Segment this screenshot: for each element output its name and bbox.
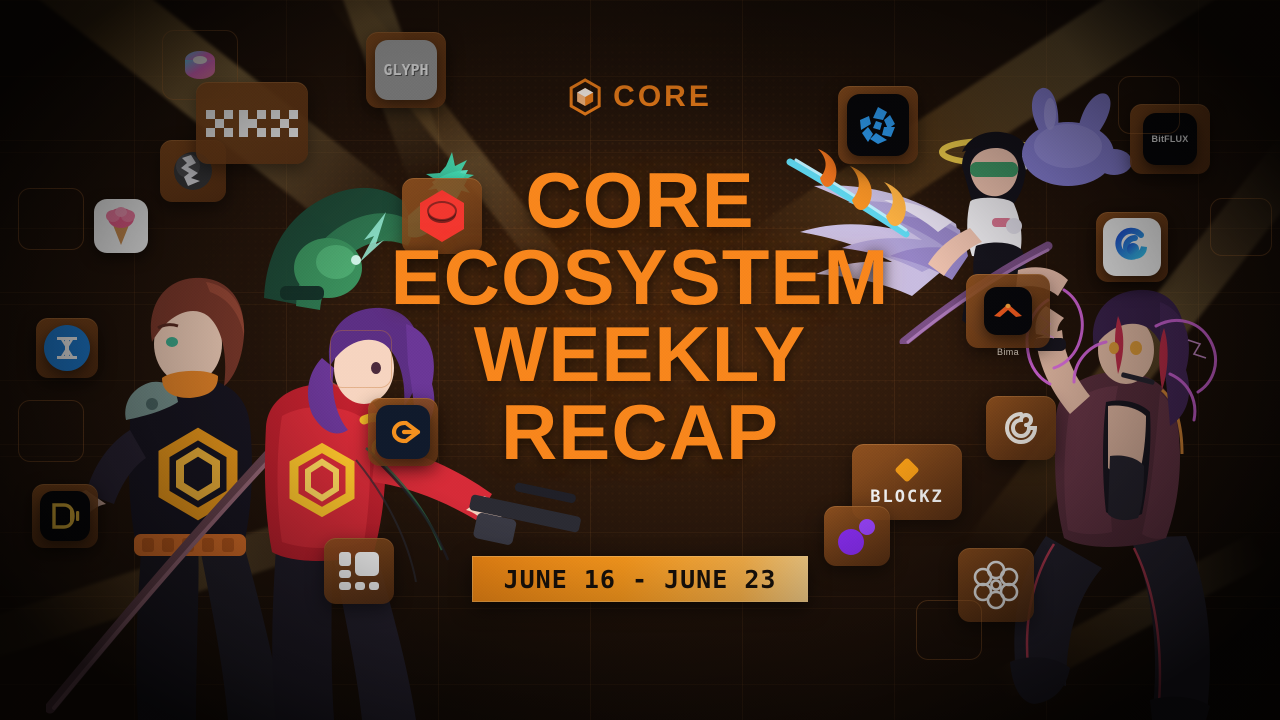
film-grain [0,0,1280,720]
promo-banner: GLYPH [0,0,1280,720]
